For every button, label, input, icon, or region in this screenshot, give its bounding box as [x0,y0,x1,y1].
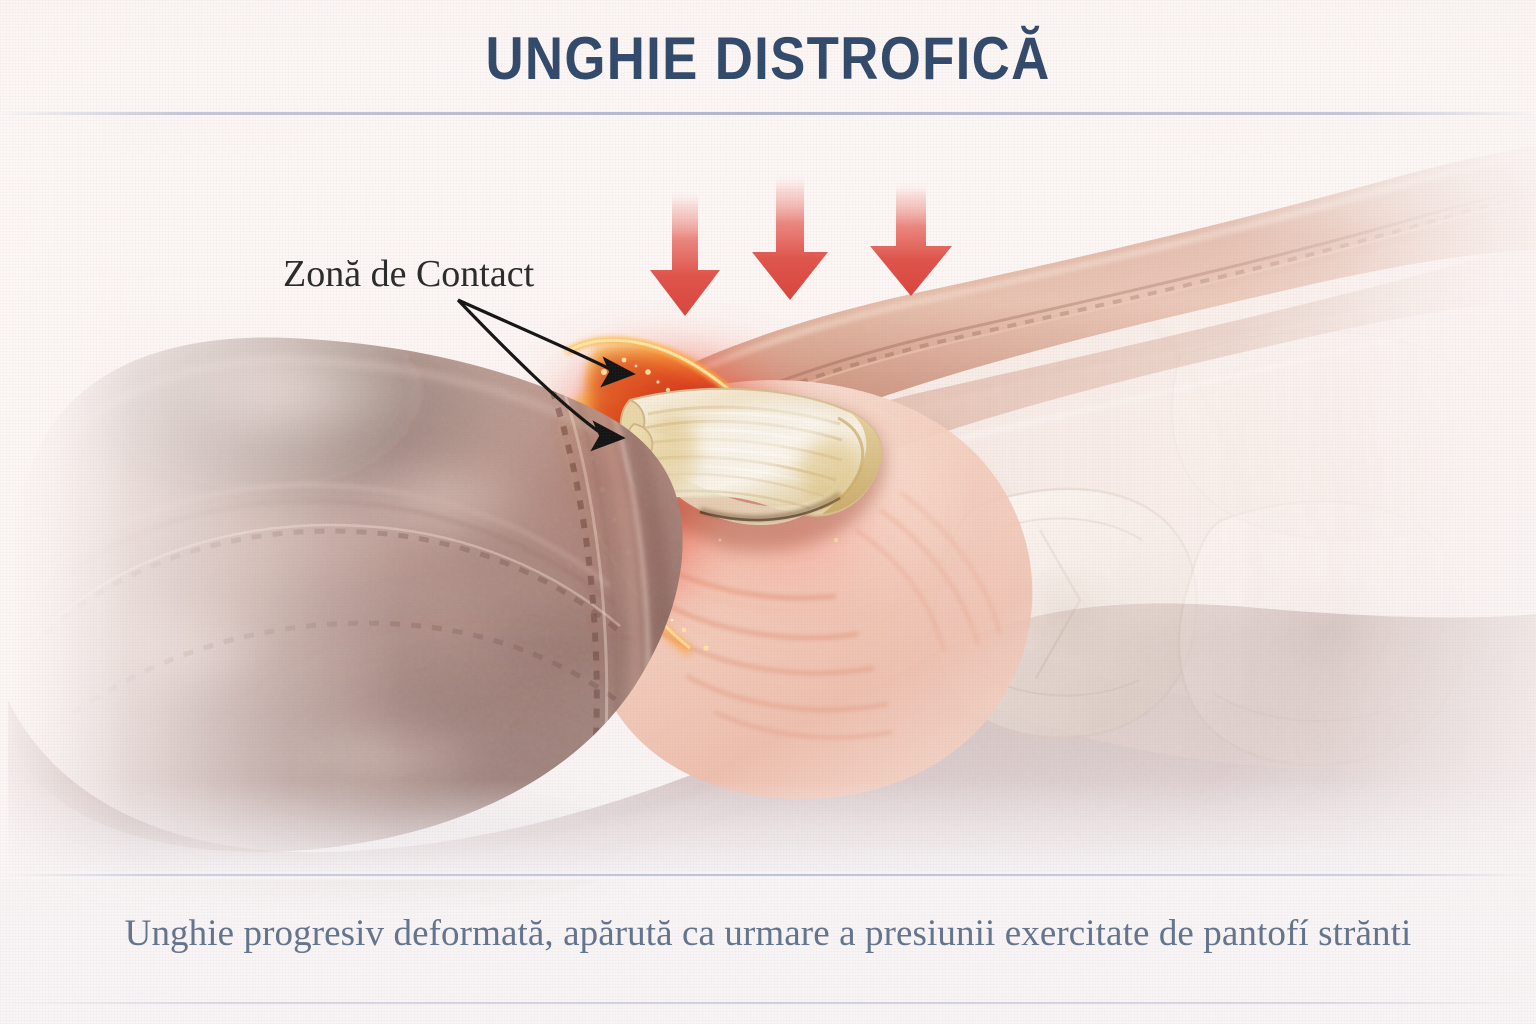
figure-caption: Unghie progresiv deformată, apărută ca u… [0,912,1536,955]
second-toe-bone [1172,331,1495,540]
divider-footer [0,1002,1536,1004]
page-title: UNGHIE DISTROFICĂ [92,24,1444,93]
divider-top [0,112,1536,115]
divider-bottom [0,874,1536,876]
anatomical-illustration [0,0,1536,1024]
metatarsal-bones [1179,501,1465,765]
illustration-page: UNGHIE DISTROFICĂ Zonă de Contact Unghie… [0,0,1536,1024]
contact-zone-label: Zonă de Contact [283,252,534,296]
